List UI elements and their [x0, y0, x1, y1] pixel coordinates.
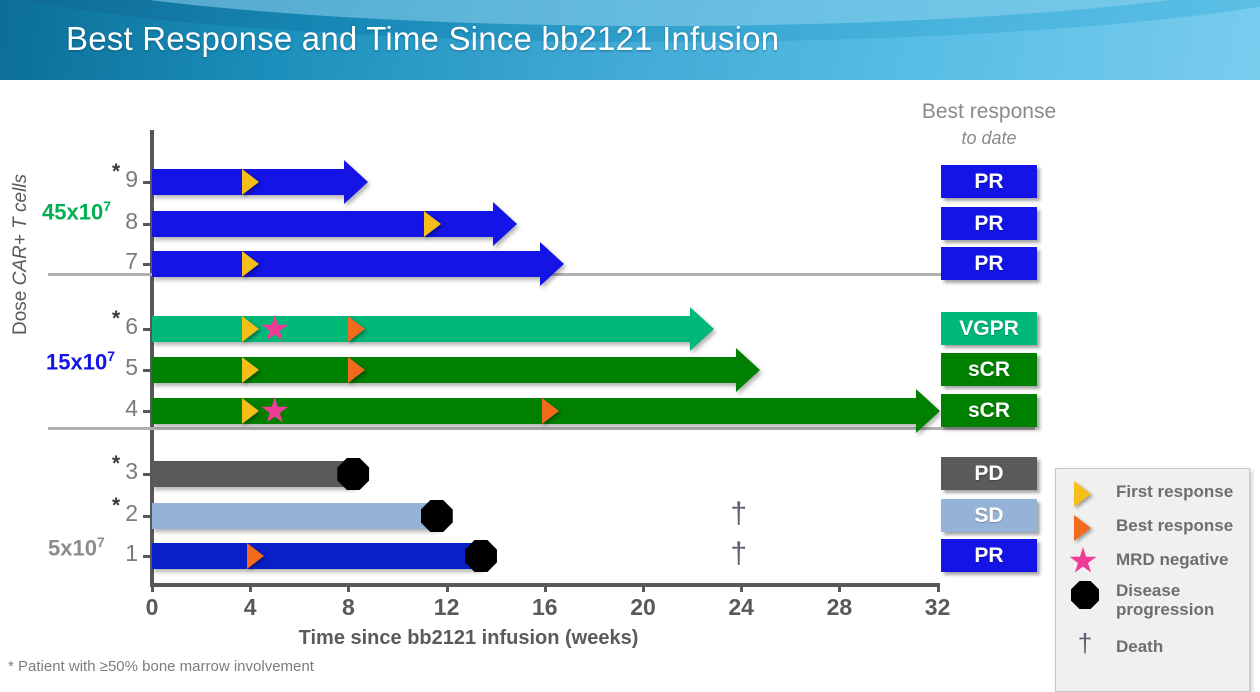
legend-label: Disease progression: [1116, 581, 1248, 619]
y-axis-title: Dose CAR+ T cells: [10, 174, 32, 335]
x-axis-tick: [838, 583, 841, 592]
bar-arrowhead: [493, 202, 517, 246]
best-response-triangle-icon: [247, 543, 264, 569]
x-axis-tick-label: 4: [244, 594, 257, 621]
bar-body: [152, 251, 540, 277]
x-axis-tick: [446, 583, 449, 592]
y-axis-tick: [143, 181, 152, 184]
bar-body: [152, 357, 736, 383]
dose-group-label-45: 45x107: [42, 198, 111, 225]
bar-arrowhead: [690, 307, 714, 351]
x-axis-tick-label: 24: [728, 594, 754, 621]
y-axis-tick: [143, 263, 152, 266]
bar-body: [152, 543, 481, 569]
footnote: * Patient with ≥50% bone marrow involvem…: [8, 658, 314, 675]
patient-row-label-4: 4: [125, 395, 138, 422]
bar-arrowhead: [344, 160, 368, 204]
title-banner: Best Response and Time Since bb2121 Infu…: [0, 0, 1260, 80]
legend-label: Best response: [1116, 516, 1248, 535]
chart-area: Dose CAR+ T cells 45x107 15x107 5x107 9*…: [0, 80, 1260, 683]
best-response-triangle-icon: [1074, 515, 1091, 541]
y-axis-tick: [143, 369, 152, 372]
x-axis-title: Time since bb2121 infusion (weeks): [0, 627, 937, 650]
best-response-badge-3: PD: [941, 457, 1037, 490]
x-axis-tick-label: 0: [146, 594, 159, 621]
best-response-triangle-icon: [348, 316, 365, 342]
bone-marrow-asterisk-3: *: [112, 452, 120, 476]
patient-row-label-6: 6: [125, 313, 138, 340]
best-response-badge-2: SD: [941, 499, 1037, 532]
bone-marrow-asterisk-6: *: [112, 307, 120, 331]
best-response-badge-1: PR: [941, 539, 1037, 572]
x-axis-tick-label: 28: [827, 594, 853, 621]
bar-arrowhead: [916, 389, 940, 433]
x-axis-tick-label: 32: [925, 594, 951, 621]
x-axis-tick-label: 20: [630, 594, 656, 621]
patient-row-label-1: 1: [125, 540, 138, 567]
x-axis-tick: [544, 583, 547, 592]
legend-label: MRD negative: [1116, 550, 1248, 569]
legend-label: Death: [1116, 637, 1248, 656]
x-axis-tick: [740, 583, 743, 592]
x-axis-tick: [937, 583, 940, 592]
patient-row-label-3: 3: [125, 458, 138, 485]
patient-row-label-8: 8: [125, 208, 138, 235]
best-response-triangle-icon: [542, 398, 559, 424]
first-response-triangle-icon: [424, 211, 441, 237]
bar-body: [152, 211, 493, 237]
best-response-badge-9: PR: [941, 165, 1037, 198]
death-dagger-icon: †: [730, 539, 747, 569]
patient-row-label-5: 5: [125, 354, 138, 381]
patient-row-label-9: 9: [125, 166, 138, 193]
x-axis-tick-label: 12: [434, 594, 460, 621]
y-axis-tick: [143, 473, 152, 476]
x-axis-tick: [642, 583, 645, 592]
patient-row-label-7: 7: [125, 248, 138, 275]
bar-body: [152, 503, 437, 529]
bar-body: [152, 316, 690, 342]
y-axis-tick: [143, 555, 152, 558]
best-response-badge-8: PR: [941, 207, 1037, 240]
best-response-badge-4: sCR: [941, 394, 1037, 427]
bone-marrow-asterisk-9: *: [112, 160, 120, 184]
bar-body: [152, 461, 353, 487]
dose-group-separator-2: [48, 427, 1035, 430]
first-response-triangle-icon: [242, 251, 259, 277]
x-axis-tick: [249, 583, 252, 592]
first-response-triangle-icon: [242, 357, 259, 383]
y-axis-tick: [143, 223, 152, 226]
x-axis-tick: [347, 583, 350, 592]
best-response-triangle-icon: [348, 357, 365, 383]
y-axis-tick: [143, 328, 152, 331]
bar-arrowhead: [540, 242, 564, 286]
x-axis-tick-label: 16: [532, 594, 558, 621]
best-response-subheader: to date: [884, 128, 1094, 149]
first-response-triangle-icon: [1074, 481, 1091, 507]
first-response-triangle-icon: [242, 398, 259, 424]
dose-group-label-5: 5x107: [48, 534, 105, 561]
first-response-triangle-icon: [242, 316, 259, 342]
bar-arrowhead: [736, 348, 760, 392]
mrd-negative-star-icon: [1069, 547, 1097, 575]
y-axis-tick: [143, 515, 152, 518]
disease-progression-octagon-icon: [1071, 581, 1099, 609]
legend-label: First response: [1116, 482, 1248, 501]
legend: First responseBest responseMRD negativeD…: [1055, 468, 1250, 692]
best-response-header: Best response: [884, 100, 1094, 124]
page-title: Best Response and Time Since bb2121 Infu…: [66, 20, 779, 58]
y-axis-tick: [143, 410, 152, 413]
x-axis-tick-label: 8: [342, 594, 355, 621]
death-dagger-icon: †: [1078, 630, 1092, 656]
best-response-badge-5: sCR: [941, 353, 1037, 386]
dose-group-label-15: 15x107: [46, 348, 115, 375]
bar-body: [152, 398, 916, 424]
bone-marrow-asterisk-2: *: [112, 494, 120, 518]
best-response-badge-7: PR: [941, 247, 1037, 280]
x-axis-tick: [151, 583, 154, 592]
best-response-badge-6: VGPR: [941, 312, 1037, 345]
patient-row-label-2: 2: [125, 500, 138, 527]
death-dagger-icon: †: [730, 499, 747, 529]
first-response-triangle-icon: [242, 169, 259, 195]
